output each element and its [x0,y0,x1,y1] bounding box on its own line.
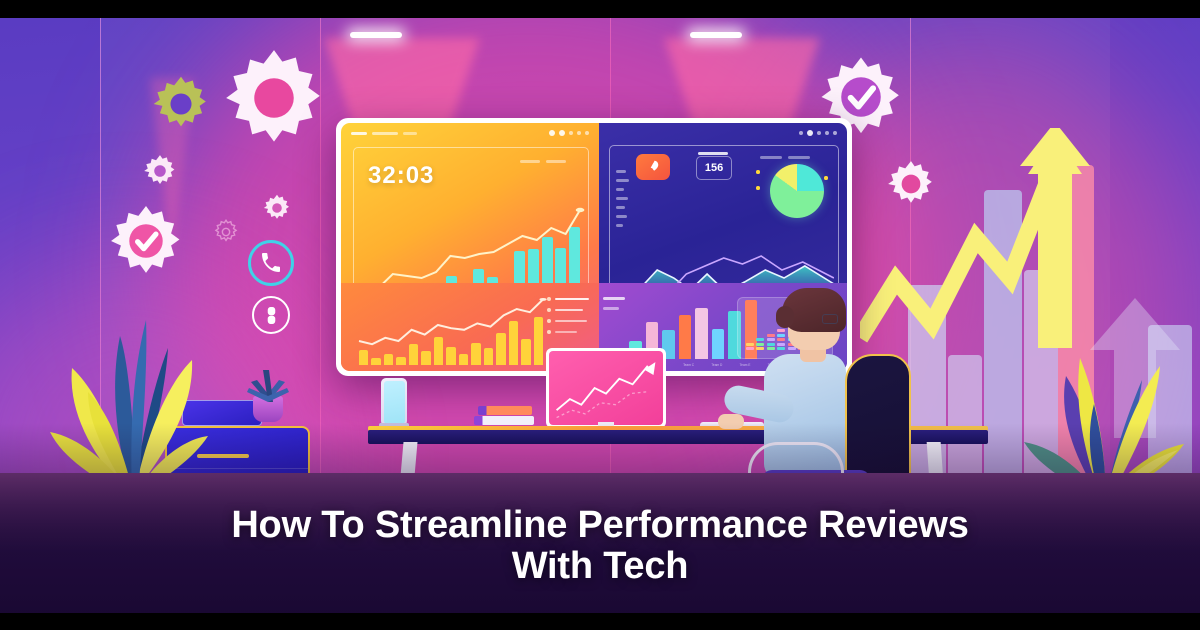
stacked-col-1 [756,338,764,350]
gear-white-right-icon [885,158,937,210]
y-axis-labels [616,170,630,227]
secondary-monitor-chart [549,351,663,425]
screenshot-canvas: 32:03 [0,0,1200,630]
gear-white-large-icon [222,46,326,150]
gear-white-tiny-icon [142,153,178,189]
category-bar-3 [679,315,692,359]
ceiling-lamp-left [350,32,402,38]
ceiling-lamp-right [690,32,742,38]
stacked-col-3 [777,329,785,350]
right-panel-header [599,123,847,143]
monitor-screen: 32:03 [341,123,847,371]
gear-outline-faint-icon [212,218,240,246]
flower-share-icon [252,296,290,334]
legend-b [520,160,540,163]
book-top [478,406,532,415]
left-panel-toolbar-icons[interactable] [549,130,589,136]
category-tick-4: Team E [740,363,751,371]
gear-check-left-icon [108,203,184,279]
left-panel-header [341,123,599,143]
gear-olive-icon [150,73,212,135]
category-bar-4 [695,308,708,359]
page-title: How To Streamline Performance Reviews Wi… [0,505,1200,587]
phone-icon [248,240,294,286]
category-bar-5 [712,329,725,359]
monthly-volume-legend [547,297,589,334]
person-glasses [822,314,838,324]
page-title-line1: How To Streamline Performance Reviews [90,505,1110,546]
person-hair-back [776,306,794,328]
letterbox-bottom [0,613,1200,630]
share-pie-chart [770,164,824,218]
legend-a [546,160,566,163]
gear-white-mini-icon [262,193,292,223]
category-tick-3: Team D [711,363,722,371]
secondary-monitor[interactable] [546,348,666,428]
kpi-value: 156 [696,156,732,180]
right-panel-toolbar-icons[interactable] [799,130,837,136]
kpi-underline [698,152,728,155]
plant-small-succulent-leaves [243,366,293,402]
category-tick-2: Team C [683,363,694,371]
illustration-scene: 32:03 [0,18,1200,613]
stacked-col-2 [767,334,775,351]
rocket-badge[interactable] [636,154,670,180]
stacked-col-0 [746,343,754,351]
left-panel-title-dashes [351,132,417,135]
primary-monitor[interactable]: 32:03 [336,118,852,376]
page-title-line2: With Tech [90,546,1110,587]
monthly-volume-line [359,293,543,365]
big-timer-value: 32:03 [368,162,434,190]
letterbox-top [0,0,1200,18]
legend-c [760,156,782,159]
legend-d [788,156,810,159]
smartphone[interactable] [381,378,407,426]
